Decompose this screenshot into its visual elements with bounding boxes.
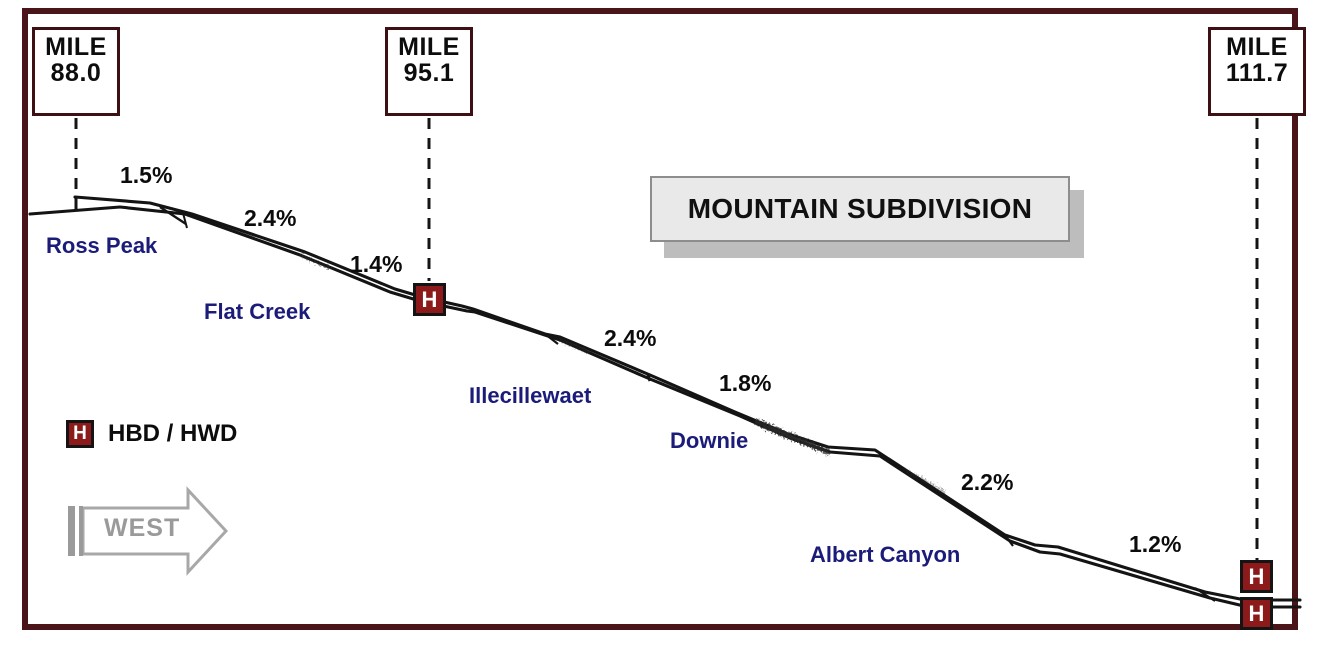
grade-label-7: 1.2%: [1129, 531, 1181, 558]
mile-marker-left[interactable]: MILE 88.0: [32, 27, 120, 116]
detector-glyph: H: [1249, 601, 1265, 627]
detector-glyph: H: [422, 287, 438, 313]
mile-marker-right[interactable]: MILE 111.7: [1208, 27, 1306, 116]
ballast-texture-albert: [905, 470, 945, 492]
grade-label-3: 1.4%: [350, 251, 402, 278]
mile-marker-left-label: MILE: [35, 35, 117, 61]
place-label-flat-creek: Flat Creek: [204, 299, 310, 325]
place-label-albert-canyon: Albert Canyon: [810, 542, 960, 568]
mile-marker-middle-label: MILE: [388, 35, 470, 61]
place-label-downie: Downie: [670, 428, 748, 454]
ballast-texture-downie-2: [762, 426, 822, 450]
grade-label-5: 1.8%: [719, 370, 771, 397]
grade-label-2: 2.4%: [244, 205, 296, 232]
mile-marker-middle[interactable]: MILE 95.1: [385, 27, 473, 116]
grade-label-6: 2.2%: [961, 469, 1013, 496]
west-direction-label: WEST: [104, 514, 180, 543]
legend-detector-icon: H: [66, 420, 94, 448]
siding-illecillewaet-end: [648, 375, 650, 381]
profile-diagram: MOUNTAIN SUBDIVISION MILE 88.0 MILE 95.1…: [0, 0, 1320, 645]
title-banner: MOUNTAIN SUBDIVISION: [650, 176, 1070, 242]
grade-label-4: 2.4%: [604, 325, 656, 352]
mile-marker-right-label: MILE: [1211, 35, 1303, 61]
track-profile-drawing: [0, 0, 1320, 645]
detector-icon-mile-95[interactable]: H: [413, 283, 446, 316]
mile-marker-left-value: 88.0: [35, 61, 117, 87]
detector-icon-mile-111-lower[interactable]: H: [1240, 597, 1273, 630]
place-label-ross-peak: Ross Peak: [46, 233, 157, 259]
mile-marker-right-value: 111.7: [1211, 61, 1303, 87]
track-line-lower: [30, 207, 1300, 607]
grade-label-1: 1.5%: [120, 162, 172, 189]
place-label-illecillewaet: Illecillewaet: [469, 383, 591, 409]
diagram-title: MOUNTAIN SUBDIVISION: [688, 193, 1033, 225]
legend-detector-glyph: H: [73, 423, 87, 445]
legend-detector-label: HBD / HWD: [108, 420, 237, 448]
detector-glyph: H: [1249, 564, 1265, 590]
detector-icon-mile-111-upper[interactable]: H: [1240, 560, 1273, 593]
mile-marker-middle-value: 95.1: [388, 61, 470, 87]
